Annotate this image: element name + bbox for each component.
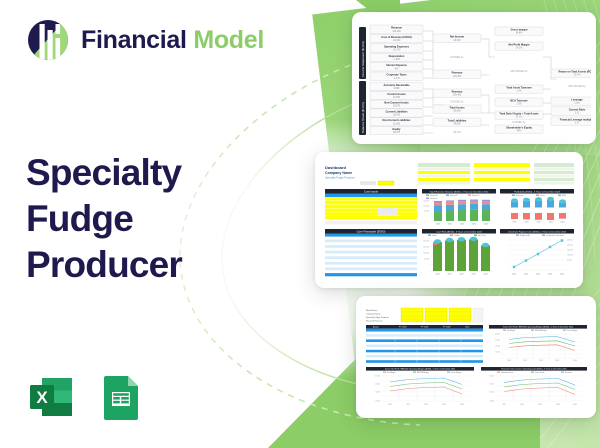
svg-text:Non-Current Liabilities: Non-Current Liabilities (383, 118, 412, 122)
svg-text:40,000: 40,000 (495, 346, 500, 348)
svg-text:FY 2020: FY 2020 (399, 327, 407, 329)
svg-text:Costs: Costs (540, 194, 545, 197)
svg-text:Cumulative Cash Flow: Cumulative Cash Flow (546, 234, 565, 237)
svg-text:Gross / Net Profit / EBITDA /: Gross / Net Profit / EBITDA / Operating … (503, 326, 573, 329)
svg-text:Company Name: Company Name (366, 314, 381, 316)
svg-text:Total Assets: Total Assets (449, 106, 465, 110)
svg-text:Interest Expense: Interest Expense (386, 63, 407, 67)
svg-text:20.7%: 20.7% (574, 75, 581, 77)
svg-text:2020: 2020 (436, 224, 440, 226)
svg-text:2023: 2023 (472, 274, 476, 276)
svg-text:-: - (567, 270, 568, 272)
svg-text:-21,740: -21,740 (393, 50, 402, 52)
svg-text:EBITDA Margin: EBITDA Margin (535, 329, 547, 332)
svg-text:2024: 2024 (460, 404, 464, 406)
svg-text:Net Profit Margin: Net Profit Margin (509, 43, 530, 47)
svg-text:2023: 2023 (556, 404, 560, 406)
svg-text:2021: 2021 (525, 222, 529, 224)
circle-bar-chart-logo-icon (26, 18, 70, 62)
svg-text:50,000: 50,000 (424, 259, 429, 261)
svg-text:80,000: 80,000 (495, 334, 500, 336)
svg-text:Inflow: Inflow (432, 235, 437, 237)
svg-text:1.31: 1.31 (575, 113, 580, 115)
page-title-line3: Producer (26, 242, 241, 288)
svg-text:2023: 2023 (472, 224, 476, 226)
svg-text:2022: 2022 (536, 274, 540, 276)
svg-text:40,000: 40,000 (375, 392, 380, 394)
svg-text:2023: 2023 (548, 274, 552, 276)
svg-text:34.8%: 34.8% (516, 33, 523, 35)
screenshot-card-financial-forecast[interactable]: Model Name Company Name Specialty Fudge … (356, 296, 596, 418)
svg-text:80,000: 80,000 (375, 376, 380, 378)
brand-name-part2: Model (193, 26, 264, 54)
svg-text:200,000: 200,000 (423, 241, 429, 243)
svg-text:2023: 2023 (549, 222, 553, 224)
svg-text:Core Financials ($'000): Core Financials ($'000) (357, 229, 386, 233)
svg-text:2022: 2022 (460, 274, 464, 276)
svg-text:Net Margin: Net Margin (507, 329, 515, 332)
svg-text:Financial Forecast: Financial Forecast (366, 320, 383, 323)
svg-text:Cost of Revenue (COGS): Cost of Revenue (COGS) (381, 35, 412, 39)
svg-text:2020: 2020 (513, 222, 517, 224)
svg-text:2022: 2022 (538, 404, 542, 406)
dashboard-screenshot: Dashboard Company Name Specialty Fudge P… (320, 157, 578, 283)
page-title-line2: Fudge (26, 196, 241, 242)
brand-name: Financial Model (81, 26, 264, 55)
svg-text:150,000: 150,000 (423, 201, 429, 203)
svg-text:125,400: 125,400 (453, 95, 462, 97)
svg-text:2024: 2024 (561, 222, 565, 224)
svg-text:Total Debt / Equity + Total As: Total Debt / Equity + Total Assets (499, 113, 539, 116)
svg-text:150,000: 150,000 (423, 247, 429, 249)
svg-text:14.1%: 14.1% (516, 48, 523, 50)
svg-text:2021: 2021 (406, 404, 410, 406)
svg-text:Revenue: Revenue (391, 26, 402, 30)
svg-text:38,270: 38,270 (453, 131, 461, 134)
svg-text:60,000: 60,000 (489, 384, 494, 386)
svg-text:2023: 2023 (442, 404, 446, 406)
svg-text:Corporate Taxes: Corporate Taxes (386, 73, 407, 77)
svg-text:Specialty Fudge Producer: Specialty Fudge Producer (325, 176, 355, 180)
svg-text:24,090: 24,090 (393, 97, 401, 99)
svg-text:57.1%: 57.1% (516, 117, 523, 119)
brand-logo[interactable]: Financial Model (26, 18, 264, 62)
svg-text:Stream D: Stream D (430, 197, 438, 200)
svg-text:60,000: 60,000 (375, 384, 380, 386)
svg-text:Total: Total (465, 326, 470, 329)
svg-text:Outflow: Outflow (454, 234, 461, 237)
svg-text:86,960: 86,960 (453, 111, 461, 113)
svg-text:2022: 2022 (539, 360, 543, 362)
svg-text:2024: 2024 (484, 274, 488, 276)
svg-text:DIVIDED by: DIVIDED by (451, 101, 465, 104)
svg-text:Revenue / Direct Costs / Opera: Revenue / Direct Costs / Operating Costs… (501, 368, 566, 371)
svg-text:2020: 2020 (436, 274, 440, 276)
svg-text:Depreciation: Depreciation (389, 54, 405, 58)
svg-text:Total Liabilities: Total Liabilities (448, 119, 467, 123)
svg-text:Revenue: Revenue (565, 372, 572, 374)
svg-text:125,400: 125,400 (453, 76, 462, 78)
svg-text:44%: 44% (517, 131, 522, 133)
svg-text:1.44: 1.44 (517, 91, 522, 93)
financial-forecast-screenshot: Model Name Company Name Specialty Fudge … (361, 301, 591, 413)
svg-text:2022: 2022 (424, 404, 428, 406)
file-format-icons: X (26, 372, 146, 422)
svg-text:-937: -937 (394, 68, 399, 70)
svg-text:EBIT: EBIT (562, 195, 567, 197)
svg-text:Stream A: Stream A (430, 194, 438, 197)
screenshot-card-dashboard[interactable]: Dashboard Company Name Specialty Fudge P… (315, 152, 583, 288)
svg-text:2022: 2022 (460, 224, 464, 226)
svg-text:1.99: 1.99 (517, 104, 522, 106)
svg-text:2.27: 2.27 (575, 123, 580, 125)
svg-text:Actual: Actual (373, 326, 379, 329)
svg-text:2020: 2020 (388, 404, 392, 406)
svg-text:Gross Margin: Gross Margin (451, 371, 461, 374)
svg-text:Accounts Receivable: Accounts Receivable (383, 83, 410, 87)
svg-text:2.28x: 2.28x (574, 103, 580, 105)
svg-text:Return on Total Assets (ROTA): Return on Total Assets (ROTA) (558, 70, 591, 74)
svg-text:Cash Flow ($'000) - 5 Years to: Cash Flow ($'000) - 5 Years to December … (436, 230, 482, 233)
svg-text:2021: 2021 (523, 360, 527, 362)
svg-text:38,270: 38,270 (393, 132, 401, 134)
svg-text:Current Liabilities: Current Liabilities (385, 109, 408, 113)
svg-text:Leverage: Leverage (571, 98, 583, 102)
svg-text:EBITDA Margin: EBITDA Margin (417, 371, 429, 374)
svg-text:18,018: 18,018 (453, 40, 461, 42)
svg-text:2022: 2022 (537, 222, 541, 224)
svg-text:2020: 2020 (512, 274, 516, 276)
svg-text:Specialty Fudge Producer: Specialty Fudge Producer (366, 316, 389, 319)
svg-text:100,000: 100,000 (567, 255, 573, 257)
page-title: Specialty Fudge Producer (26, 150, 241, 288)
svg-text:62,870: 62,870 (393, 106, 401, 108)
svg-text:Current Ratio: Current Ratio (569, 108, 586, 112)
google-sheets-icon[interactable] (96, 372, 146, 422)
page-title-line1: Specialty (26, 150, 241, 196)
svg-text:Cost Inputs: Cost Inputs (364, 189, 379, 193)
svg-text:2021: 2021 (448, 274, 452, 276)
svg-text:31,260: 31,260 (393, 123, 401, 125)
svg-text:2024: 2024 (573, 404, 577, 406)
svg-text:Revenue: Revenue (516, 195, 523, 197)
svg-text:Net Margin: Net Margin (387, 371, 395, 374)
svg-text:2024: 2024 (573, 360, 577, 362)
svg-text:2021: 2021 (448, 224, 452, 226)
brand-name-part1: Financial (81, 26, 193, 54)
svg-text:Income Statement ($ mln): Income Statement ($ mln) (361, 41, 365, 77)
svg-text:Operating Expenses: Operating Expenses (384, 44, 410, 48)
svg-text:Direct Costs: Direct Costs (535, 371, 544, 374)
svg-text:100,000: 100,000 (423, 253, 429, 255)
svg-text:-4,175: -4,175 (393, 78, 400, 80)
svg-text:Investment Payback Chart ($'00: Investment Payback Chart ($'000) - 5 Yea… (508, 230, 567, 233)
svg-text:-: - (428, 271, 429, 273)
svg-text:Profitability ($'000) - 5 Year: Profitability ($'000) - 5 Years to Decem… (514, 190, 561, 193)
svg-text:80,000: 80,000 (489, 376, 494, 378)
svg-text:Net Cash: Net Cash (478, 234, 486, 237)
svg-text:X: X (36, 388, 48, 407)
svg-text:40,000: 40,000 (489, 392, 494, 394)
svg-text:Revenue: Revenue (452, 71, 463, 75)
svg-text:60,000: 60,000 (495, 340, 500, 342)
svg-text:250,000: 250,000 (567, 240, 573, 242)
svg-text:Model Name: Model Name (366, 310, 378, 312)
svg-text:Net Income: Net Income (450, 35, 465, 39)
svg-text:125,400: 125,400 (392, 31, 401, 33)
svg-text:20,000: 20,000 (489, 401, 494, 403)
svg-text:2020: 2020 (507, 360, 511, 362)
svg-text:Balance Sheet ($ mln): Balance Sheet ($ mln) (361, 102, 365, 133)
dupont-analysis-diagram: Income Statement ($ mln) Balance Sheet (… (357, 17, 591, 139)
screenshot-card-dupont-analysis[interactable]: Income Statement ($ mln) Balance Sheet (… (352, 12, 596, 144)
svg-text:FY 2022: FY 2022 (443, 327, 451, 329)
svg-text:-: - (500, 358, 501, 360)
svg-text:Operating Costs: Operating Costs (501, 371, 513, 374)
svg-text:9,980: 9,980 (394, 88, 400, 90)
svg-text:Revenue: Revenue (452, 90, 463, 94)
svg-text:-1,980: -1,980 (393, 59, 400, 61)
svg-text:Top 5 Revenue Streams ($'000): Top 5 Revenue Streams ($'000) - 5 Years … (430, 190, 489, 193)
svg-text:DIVIDED by: DIVIDED by (513, 121, 527, 124)
svg-text:Stream C: Stream C (472, 194, 480, 197)
svg-text:-81,800: -81,800 (393, 40, 402, 42)
svg-text:-: - (428, 221, 429, 223)
svg-text:Gross / Net Profit / EBITDA /: Gross / Net Profit / EBITDA / Operating … (385, 368, 455, 371)
svg-text:NCA Turnover: NCA Turnover (510, 99, 527, 103)
svg-text:Shareholder's Equity: Shareholder's Equity (506, 126, 532, 130)
svg-text:Gross Margin: Gross Margin (567, 329, 577, 332)
svg-text:20,000: 20,000 (495, 352, 500, 354)
microsoft-excel-icon[interactable]: X (26, 372, 76, 422)
svg-text:DIVIDED by: DIVIDED by (451, 56, 465, 59)
svg-text:20,000: 20,000 (375, 401, 380, 403)
svg-text:Company Name: Company Name (325, 171, 352, 175)
svg-text:18,430: 18,430 (393, 115, 401, 117)
svg-text:2024: 2024 (560, 274, 564, 276)
svg-text:Payback ($): Payback ($) (520, 235, 530, 237)
svg-text:Current Assets: Current Assets (387, 92, 406, 96)
svg-text:2024: 2024 (484, 224, 488, 226)
svg-text:150,000: 150,000 (567, 250, 573, 252)
svg-text:Total Asset Turnover: Total Asset Turnover (506, 86, 531, 90)
svg-text:Dashboard: Dashboard (325, 165, 346, 170)
svg-text:2023: 2023 (555, 360, 559, 362)
svg-text:49,690: 49,690 (453, 124, 461, 126)
svg-text:Financial Leverage multiplier: Financial Leverage multiplier (560, 119, 591, 122)
svg-text:Stream B: Stream B (450, 194, 458, 197)
svg-text:200,000: 200,000 (567, 245, 573, 247)
svg-text:2020: 2020 (502, 404, 506, 406)
svg-text:MULTIPLIED by: MULTIPLIED by (568, 85, 586, 88)
svg-text:Gross margin: Gross margin (511, 28, 528, 32)
svg-text:100,000: 100,000 (423, 206, 429, 208)
promo-banner: Financial Model Specialty Fudge Producer… (0, 0, 600, 448)
svg-text:Equity: Equity (393, 127, 401, 131)
svg-text:2021: 2021 (524, 274, 528, 276)
svg-text:50,000: 50,000 (424, 211, 429, 213)
svg-text:MULTIPLIED by: MULTIPLIED by (510, 70, 528, 73)
svg-text:FY 2021: FY 2021 (421, 327, 429, 329)
svg-text:50,000: 50,000 (567, 260, 572, 262)
svg-text:Non-Current Assets: Non-Current Assets (384, 101, 409, 105)
svg-text:2021: 2021 (520, 404, 524, 406)
